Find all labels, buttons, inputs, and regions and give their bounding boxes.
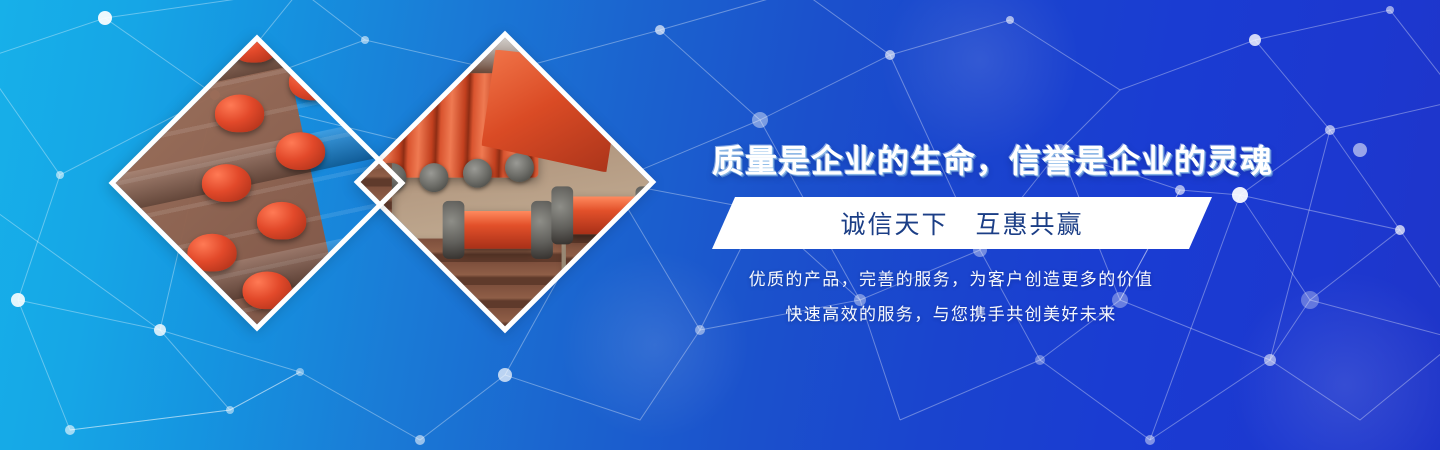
- joint-knuckle: [276, 132, 325, 170]
- banner-subtext: 优质的产品，完善的服务，为客户创造更多的价值 快速高效的服务，与您携手共创美好未…: [714, 262, 1188, 332]
- banner-headline: 质量是企业的生命，信誉是企业的灵魂: [712, 136, 1190, 182]
- assembled-drive-shaft: [567, 196, 643, 234]
- product-photo-universal-joint-shafts-inner: [112, 38, 402, 328]
- joint-knuckle: [215, 95, 264, 133]
- joint-knuckle: [243, 271, 292, 309]
- shaft-flange: [462, 158, 491, 187]
- shaft-flange: [420, 163, 449, 192]
- promotional-banner: 质量是企业的生命，信誉是企业的灵魂 诚信天下 互惠共赢 优质的产品，完善的服务，…: [0, 0, 1440, 450]
- joint-knuckle: [201, 164, 250, 202]
- wooden-pallet: [567, 220, 657, 333]
- slogan-ribbon: 诚信天下 互惠共赢: [712, 197, 1212, 249]
- teal-wrap-detail: [354, 31, 433, 59]
- slogan-ribbon-text: 诚信天下 互惠共赢: [712, 197, 1212, 249]
- joint-knuckle: [257, 202, 306, 240]
- shaft-flange: [505, 154, 534, 183]
- joint-knuckle: [289, 62, 338, 100]
- joint-knuckle: [173, 304, 222, 332]
- banner-subline-1: 优质的产品，完善的服务，为客户创造更多的价值: [714, 262, 1188, 297]
- banner-subline-2: 快速高效的服务，与您携手共创美好未来: [714, 297, 1188, 332]
- product-photo-universal-joint-shafts: [109, 35, 406, 332]
- assembled-drive-shaft: [458, 210, 538, 248]
- background-glow-right: [1230, 270, 1440, 450]
- red-shafts-illustration: [109, 35, 406, 332]
- joint-knuckle: [187, 234, 236, 272]
